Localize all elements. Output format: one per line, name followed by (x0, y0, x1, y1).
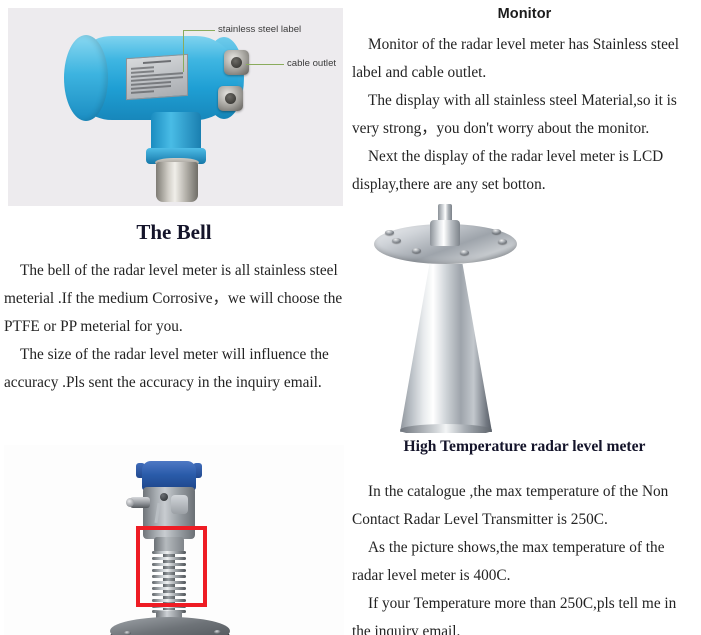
process-flange-bolt-hole (124, 631, 131, 635)
flange-bolt-hole (492, 229, 501, 234)
nameplate-text-line (131, 85, 171, 89)
nameplate-title-line (143, 60, 171, 64)
monitor-body-text: Monitor of the radar level meter has Sta… (352, 31, 697, 199)
housing-knob (160, 493, 168, 501)
high-temperature-image-panel (4, 445, 344, 635)
nameplate-text-line (131, 66, 154, 69)
high-temperature-paragraph: In the catalogue ,the max temperature of… (352, 478, 697, 534)
monitor-paragraph: The display with all stainless steel Mat… (352, 87, 697, 143)
flange-bolt-hole (392, 238, 401, 243)
monitor-heading: Monitor (352, 6, 697, 22)
cable-outlet-gland-upper (224, 50, 249, 75)
cable-outlet-gland-lower (218, 86, 243, 111)
cone-antenna-hub (430, 220, 460, 246)
stainless-steel-label-leader-vertical (183, 30, 184, 72)
callout-label-cable-outlet: cable outlet (287, 58, 336, 69)
bell-text-panel: The Bell The bell of the radar level met… (4, 220, 344, 397)
flange-bolt-hole (460, 250, 469, 255)
high-temperature-body-text: In the catalogue ,the max temperature of… (352, 478, 697, 635)
flange-bolt-hole (412, 248, 421, 253)
cable-gland (130, 497, 150, 508)
flange-bolt-hole (385, 230, 394, 235)
monitor-paragraph: Monitor of the radar level meter has Sta… (352, 31, 697, 87)
monitor-horn-antenna (156, 162, 198, 202)
bell-paragraph: The size of the radar level meter will i… (4, 341, 344, 397)
high-temperature-text-panel: High Temperature radar level meter In th… (352, 438, 697, 635)
high-temperature-radar-level-meter-photo (4, 445, 344, 635)
product-description-page: stainless steel label cable outlet Monit… (0, 0, 701, 635)
monitor-paragraph: Next the display of the radar level mete… (352, 143, 697, 199)
high-temperature-paragraph: If your Temperature more than 250C,pls t… (352, 590, 697, 635)
bell-body-text: The bell of the radar level meter is all… (4, 257, 344, 397)
highlight-rectangle-cooling-fins (136, 526, 207, 607)
high-temperature-heading: High Temperature radar level meter (352, 438, 697, 456)
process-flange-bolt-hole (214, 630, 221, 634)
radar-level-meter-monitor-photo: stainless steel label cable outlet (8, 8, 343, 206)
callout-label-stainless-steel-label: stainless steel label (218, 24, 301, 35)
stainless-steel-cone-antenna-photo (352, 198, 697, 433)
stainless-steel-label-nameplate (126, 54, 188, 100)
cable-outlet-leader-horizontal (246, 64, 284, 65)
high-temperature-paragraph: As the picture shows,the max temperature… (352, 534, 697, 590)
bell-image-panel (352, 198, 697, 433)
nameplate-text-line (131, 76, 183, 81)
housing-dial (171, 495, 188, 514)
bell-heading: The Bell (4, 220, 344, 245)
stainless-steel-label-leader-horizontal (183, 30, 215, 31)
monitor-text-panel: Monitor Monitor of the radar level meter… (352, 6, 697, 199)
monitor-image-panel: stainless steel label cable outlet (8, 8, 343, 206)
nameplate-text-line (131, 90, 154, 93)
flange-bolt-hole (498, 239, 507, 244)
cone-antenna-horn (400, 264, 492, 432)
nameplate-text-line (131, 70, 154, 73)
bell-paragraph: The bell of the radar level meter is all… (4, 257, 344, 341)
monitor-housing-left-cap (64, 35, 108, 121)
cone-antenna-lip (400, 424, 492, 433)
